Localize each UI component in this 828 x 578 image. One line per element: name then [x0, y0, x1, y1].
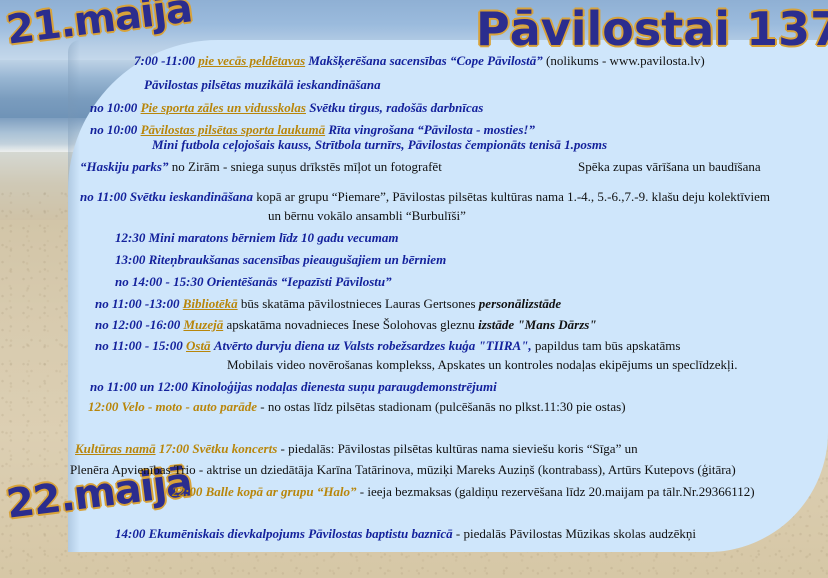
event-place[interactable]: Pāvilostas pilsētas sporta laukumā: [141, 122, 326, 137]
event-place[interactable]: Ostā: [186, 338, 211, 353]
schedule-row-festival-concert: Kultūras namā 17:00 Svētku koncerts - pi…: [75, 442, 638, 456]
event-name: Rīta vingrošana “Pāvilosta - mosties!”: [328, 122, 535, 137]
schedule-row-music-opening: Pāvilostas pilsētas muzikālā ieskandināš…: [144, 78, 381, 92]
event-place[interactable]: pie vecās peldētavas: [198, 53, 305, 68]
schedule-row-market: no 10:00 Pie sporta zāles un vidusskolas…: [90, 101, 483, 115]
event-name: Svētku tirgus, radošās darbnīcas: [309, 100, 483, 115]
schedule-row-dog-demonstration: no 11:00 un 12:00 Kinoloģijas nodaļas di…: [90, 380, 497, 394]
schedule-row-video-complex: Mobilais video novērošanas komplekss, Ap…: [227, 358, 738, 372]
schedule-row-soup-cooking: Spēka zupas vārīšana un baudīšana: [578, 160, 761, 174]
event-name: Velo - moto - auto parāde: [122, 399, 257, 414]
event-desc: apskatāma novadnieces Inese Šolohovas gl…: [226, 317, 474, 332]
event-desc: - no ostas līdz pilsētas stadionam (pulc…: [260, 399, 625, 414]
event-name: 22:00 Balle kopā ar grupu “Halo”: [172, 484, 357, 499]
schedule-row-childrens-choir: un bērnu vokālo ansambli “Burbulīši”: [268, 209, 466, 223]
event-place[interactable]: Bibliotēkā: [183, 296, 238, 311]
event-place[interactable]: Kultūras namā: [75, 441, 156, 456]
event-time: no 10:00: [90, 122, 137, 137]
event-name: “Haskiju parks”: [80, 159, 169, 174]
event-desc: no Zirām - sniega suņus drīkstēs mīļot u…: [172, 159, 442, 174]
schedule-row-husky-park: “Haskiju parks” no Zirām - sniega suņus …: [80, 160, 442, 174]
schedule-row-ecumenical-service: 14:00 Ekumēniskais dievkalpojums Pāvilos…: [115, 527, 696, 541]
schedule-row-trio-performers: Plenēra Apvienības Trio - aktrise un dzi…: [70, 463, 736, 477]
event-name: Atvērto durvju diena uz Valsts robežsard…: [214, 338, 532, 353]
schedule-row-morning-gym: no 10:00 Pāvilostas pilsētas sporta lauk…: [90, 123, 535, 137]
event-time: no 11:00 -13:00: [95, 296, 180, 311]
event-poster: Pāvilostai 137 21.maijā 22.maijā 7:00 -1…: [0, 0, 828, 578]
event-time: no 11:00 - 15:00: [95, 338, 183, 353]
event-name: izstāde "Mans Dārzs": [478, 317, 596, 332]
schedule-row-library-exhibition: no 11:00 -13:00 Bibliotēkā būs skatāma p…: [95, 297, 561, 311]
event-desc: - ieeja bezmaksas (galdiņu rezervēšana l…: [360, 484, 755, 499]
schedule-row-orienteering: no 14:00 - 15:30 Orientēšanās “Iepazīsti…: [115, 275, 392, 289]
event-desc: papildus tam būs apskatāms: [535, 338, 681, 353]
schedule-row-cycling-race: 13:00 Riteņbraukšanas sacensības pieaugu…: [115, 253, 446, 267]
event-desc: - piedalās Pāvilostas Mūzikas skolas aud…: [456, 526, 696, 541]
event-lead: no 11:00 Svētku ieskandināšana: [80, 189, 253, 204]
event-note: (nolikums - www.pavilosta.lv): [546, 53, 705, 68]
event-time: 7:00 -11:00: [134, 53, 195, 68]
event-time: 12:00: [88, 399, 118, 414]
schedule-row-mini-marathon: 12:30 Mini maratons bērniem līdz 10 gadu…: [115, 231, 399, 245]
event-time: no 10:00: [90, 100, 137, 115]
event-time: no 12:00 -16:00: [95, 317, 180, 332]
event-place[interactable]: Pie sporta zāles un vidusskolas: [141, 100, 306, 115]
schedule-row-ball-dance: 22:00 Balle kopā ar grupu “Halo” - ieeja…: [172, 485, 755, 499]
schedule-row-museum-exhibition: no 12:00 -16:00 Muzejā apskatāma novadni…: [95, 318, 597, 332]
event-desc: kopā ar grupu “Piemare”, Pāvilostas pils…: [256, 189, 770, 204]
schedule-row-fishing: 7:00 -11:00 pie vecās peldētavas Makšķer…: [134, 54, 705, 68]
event-desc: - piedalās: Pāvilostas pilsētas kultūras…: [281, 441, 638, 456]
event-name: personālizstāde: [479, 296, 561, 311]
schedule-row-port-open-day: no 11:00 - 15:00 Ostā Atvērto durvju die…: [95, 339, 680, 353]
schedule-row-sports-tournaments: Mini futbola ceļojošais kauss, Strītbola…: [152, 138, 607, 152]
schedule-row-parade: 12:00 Velo - moto - auto parāde - no ost…: [88, 400, 626, 414]
schedule-row-festival-opening: no 11:00 Svētku ieskandināšana kopā ar g…: [80, 190, 770, 204]
event-name: 14:00 Ekumēniskais dievkalpojums Pāvilos…: [115, 526, 453, 541]
event-desc: būs skatāma pāvilostnieces Lauras Gertso…: [241, 296, 476, 311]
event-name: 17:00 Svētku koncerts: [159, 441, 277, 456]
event-place[interactable]: Muzejā: [183, 317, 223, 332]
event-name: Makšķerēšana sacensības “Cope Pāvilostā”: [308, 53, 542, 68]
